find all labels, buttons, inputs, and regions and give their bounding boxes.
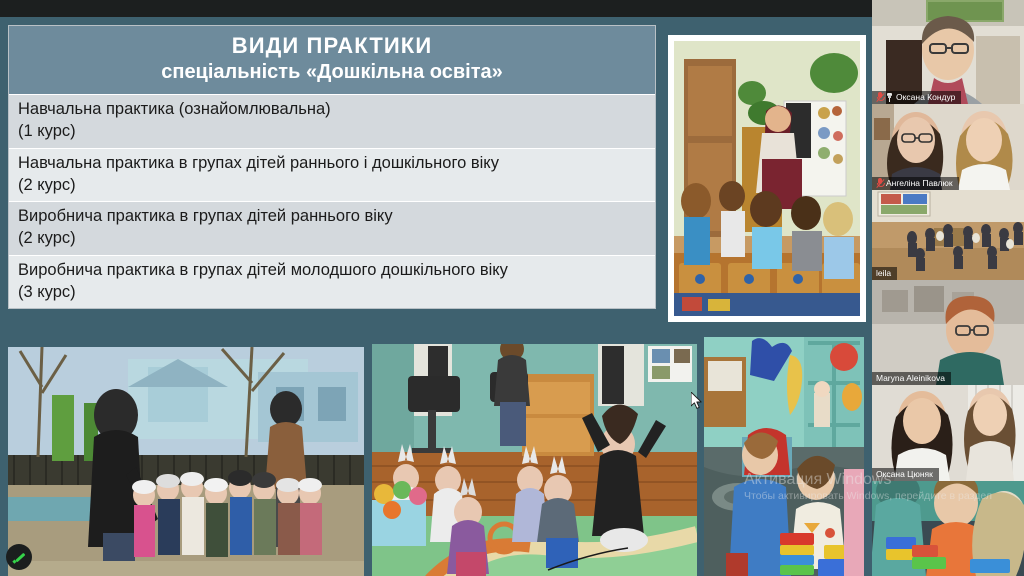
photo-outdoor [8, 347, 364, 576]
participant-tile-oksana-tsiuniak[interactable]: Оксана Цюняк [872, 385, 1024, 481]
practice-types-table: ВИДИ ПРАКТИКИ спеціальність «Дошкільна о… [8, 25, 656, 309]
participant-namebar: Maryna Aleinikova [872, 372, 951, 385]
participant-tile-anhelina-pavliuk[interactable]: Ангеліна Павлюк [872, 104, 1024, 190]
table-row-course: (2 курс) [18, 175, 646, 197]
participant-namebar: Оксана Кондур [872, 91, 961, 104]
participant-tile-leila[interactable]: leila [872, 190, 1024, 280]
slide-title-line2: спеціальність «Дошкільна освіта» [19, 60, 645, 84]
participant-rail[interactable]: Оксана Кондур [872, 0, 1024, 576]
photo-activity [372, 344, 697, 576]
photo-playroom [704, 337, 864, 576]
table-row-text: Виробнича практика в групах дітей ранньо… [18, 207, 393, 225]
table-row: Навчальна практика в групах дітей ранньо… [9, 149, 655, 203]
slide-title-header: ВИДИ ПРАКТИКИ спеціальність «Дошкільна о… [9, 26, 655, 95]
participant-name: Оксана Кондур [896, 92, 955, 102]
participant-tile-child-blocks[interactable] [872, 481, 1024, 576]
shared-screen-stage[interactable]: ВИДИ ПРАКТИКИ спеціальність «Дошкільна о… [0, 17, 872, 576]
table-row: Виробнича практика в групах дітей молодш… [9, 256, 655, 309]
participant-tile-maryna-aleinikova[interactable]: Maryna Aleinikova [872, 280, 1024, 385]
participant-name: leila [876, 268, 891, 278]
table-row-text: Виробнича практика в групах дітей молодш… [18, 261, 508, 279]
pin-icon [886, 92, 893, 102]
table-row-text: Навчальна практика (ознайомлювальна) [18, 100, 331, 118]
table-row-course: (1 курс) [18, 121, 646, 143]
participant-name: Maryna Aleinikova [876, 373, 945, 383]
participant-name: Ангеліна Павлюк [886, 178, 953, 188]
table-row: Виробнича практика в групах дітей ранньо… [9, 202, 655, 256]
microphone-muted-icon [876, 92, 883, 102]
participant-namebar: Ангеліна Павлюк [872, 177, 959, 190]
table-row-text: Навчальна практика в групах дітей ранньо… [18, 154, 499, 172]
participant-namebar: Оксана Цюняк [872, 468, 939, 481]
slide-title-line1: ВИДИ ПРАКТИКИ [19, 33, 645, 58]
table-row: Навчальна практика (ознайомлювальна) (1 … [9, 95, 655, 149]
participant-name: Оксана Цюняк [876, 469, 933, 479]
table-row-course: (2 курс) [18, 228, 646, 250]
photo-classroom [668, 35, 866, 322]
participant-tile-oksana-kondur[interactable]: Оксана Кондур [872, 0, 1024, 104]
participant-namebar: leila [872, 267, 897, 280]
pen-icon [13, 551, 26, 564]
top-dark-bar [0, 0, 872, 17]
meeting-screen: ВИДИ ПРАКТИКИ спеціальність «Дошкільна о… [0, 0, 1024, 576]
annotate-pen-button[interactable] [6, 544, 32, 570]
microphone-muted-icon [876, 178, 883, 188]
table-row-course: (3 курс) [18, 282, 646, 304]
